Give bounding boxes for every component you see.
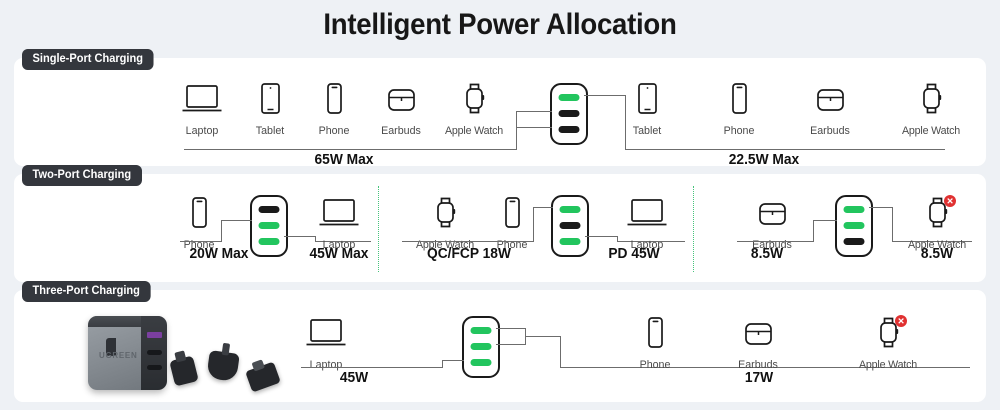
wire-left-v — [516, 111, 517, 150]
watt-label-65w: 65W Max — [287, 152, 401, 168]
device-phone-r3: Phone — [625, 316, 685, 371]
panel-divider-2 — [693, 186, 694, 272]
wire-r3-leftbus — [301, 367, 443, 368]
device-label: Earbuds — [372, 125, 430, 137]
device-label: Phone — [305, 125, 363, 137]
watt-label-22-5w: 22.5W Max — [707, 152, 821, 168]
laptop-icon — [172, 82, 232, 124]
laptop-icon — [309, 196, 369, 238]
charger-body — [550, 83, 588, 145]
wire-p3-left — [813, 220, 837, 221]
watt-label-8-5w-left: 8.5W — [715, 246, 820, 262]
device-apple-watch-r3: ✕ Apple Watch — [852, 316, 924, 371]
watt-label-8-5w-right: 8.5W — [885, 246, 990, 262]
charger-port-2 — [844, 222, 865, 229]
device-tablet: Tablet — [240, 82, 300, 137]
usb-c-port-2 — [147, 365, 162, 370]
phone-icon — [169, 196, 229, 238]
device-apple-watch-2: Apple Watch — [895, 82, 967, 137]
plug-adapter-au — [245, 362, 281, 393]
three-port-stage: UGREEN Laptop — [14, 290, 986, 402]
brand-logo: UGREEN — [99, 351, 137, 360]
phone-icon — [709, 82, 769, 124]
watt-label-qcfcp: QC/FCP 18W — [407, 246, 531, 262]
device-phone-2: Phone — [709, 82, 769, 137]
device-label: Apple Watch — [896, 125, 966, 137]
usb-a-port — [147, 332, 162, 338]
charger-port-face — [141, 316, 167, 390]
wire-r3-right3 — [525, 336, 561, 337]
device-label: Tablet — [618, 125, 676, 137]
charger-product-body: UGREEN — [88, 316, 166, 390]
wire-p1-leftbus — [180, 241, 222, 242]
wire-left-bus — [184, 149, 517, 150]
charger-port-2 — [259, 222, 280, 229]
charger-icon-three-port — [462, 316, 500, 378]
laptop-icon — [617, 196, 677, 238]
device-label: Apple Watch — [853, 359, 923, 371]
two-port-stage: Phone Laptop 20W Max 45W Max — [14, 174, 986, 282]
wire-p3-rightv — [892, 207, 893, 242]
device-label: Phone — [710, 125, 768, 137]
charger-port-3 — [560, 238, 581, 245]
earbuds-icon — [728, 316, 788, 358]
device-apple-watch-p2: Apple Watch — [409, 196, 481, 251]
wire-r3-left — [442, 360, 464, 361]
charger-icon-single-port — [550, 83, 588, 145]
charger-port-2 — [560, 222, 581, 229]
wire-r3-right1 — [496, 328, 526, 329]
charger-port-1 — [560, 206, 581, 213]
wire-p3-right — [869, 207, 893, 208]
watt-label-45w-r3: 45W — [302, 370, 407, 386]
earbuds-icon — [742, 196, 802, 238]
wire-r3-rightv2 — [560, 336, 561, 367]
device-label: Laptop — [173, 125, 231, 137]
device-earbuds-p3: Earbuds — [742, 196, 802, 251]
red-x-badge-icon: ✕ — [944, 195, 956, 207]
phone-icon — [625, 316, 685, 358]
device-laptop-p1: Laptop — [309, 196, 369, 251]
ugreen-charger-photo: UGREEN — [62, 310, 292, 396]
wire-r3-right2 — [496, 344, 526, 345]
usb-c-port-1 — [147, 350, 162, 355]
charger-port-1 — [844, 206, 865, 213]
wire-p3-leftv — [813, 220, 814, 242]
charger-icon-two-port-3 — [835, 195, 873, 257]
phone-icon — [304, 82, 364, 124]
device-tablet-2: Tablet — [617, 82, 677, 137]
tablet-icon — [617, 82, 677, 124]
device-laptop-r3: Laptop — [296, 316, 356, 371]
device-label: Phone — [626, 359, 684, 371]
charger-port-1 — [471, 327, 492, 334]
plug-adapter-eu — [169, 355, 199, 386]
three-port-charging-card: Three-Port Charging UGREEN La — [14, 290, 986, 402]
charger-port-3 — [471, 359, 492, 366]
charger-port-1 — [559, 94, 580, 101]
page-title: Intelligent Power Allocation — [40, 8, 960, 42]
wire-p2-left — [533, 207, 553, 208]
plug-adapter-uk — [206, 350, 240, 382]
device-earbuds-r3: Earbuds — [728, 316, 788, 371]
charger-port-3 — [559, 126, 580, 133]
device-apple-watch-p3: ✕ Apple Watch — [901, 196, 973, 251]
wire-right-bus — [625, 149, 945, 150]
apple-watch-icon — [409, 196, 481, 238]
single-port-charging-card: Single-Port Charging Laptop Tablet Phone — [14, 58, 986, 166]
laptop-icon — [296, 316, 356, 358]
watt-label-20w: 20W Max — [162, 246, 276, 262]
device-label: Apple Watch — [439, 125, 509, 137]
apple-watch-icon — [895, 82, 967, 124]
charger-port-2 — [559, 110, 580, 117]
earbuds-icon — [371, 82, 431, 124]
watt-label-45w: 45W Max — [282, 246, 396, 262]
red-x-badge-icon: ✕ — [895, 315, 907, 327]
wire-p3-leftbus — [737, 241, 814, 242]
charger-port-3 — [844, 238, 865, 245]
device-phone: Phone — [304, 82, 364, 137]
wire-left-1 — [516, 111, 552, 112]
apple-watch-icon — [438, 82, 510, 124]
single-port-stage: Laptop Tablet Phone Earbuds Apple Watch — [14, 58, 986, 166]
wire-p1-left — [221, 220, 252, 221]
wire-left-2 — [516, 127, 552, 128]
device-apple-watch: Apple Watch — [438, 82, 510, 137]
tablet-icon — [240, 82, 300, 124]
charger-port-2 — [471, 343, 492, 350]
device-phone-p1: Phone — [169, 196, 229, 251]
watt-label-17w-r3: 17W — [707, 370, 812, 386]
charger-body — [462, 316, 500, 378]
wire-p2-leftbus — [402, 241, 534, 242]
wire-p1-leftv — [221, 220, 222, 242]
device-laptop-p2: Laptop — [617, 196, 677, 251]
device-laptop: Laptop — [172, 82, 232, 137]
earbuds-icon — [800, 82, 860, 124]
apple-watch-icon — [852, 316, 924, 358]
device-earbuds-2: Earbuds — [800, 82, 860, 137]
wire-p2-right — [585, 236, 618, 237]
device-label: Tablet — [241, 125, 299, 137]
device-label: Earbuds — [801, 125, 859, 137]
apple-watch-icon — [901, 196, 973, 238]
wire-p2-leftv — [533, 207, 534, 242]
watt-label-pd45w: PD 45W — [582, 246, 687, 262]
device-earbuds: Earbuds — [371, 82, 431, 137]
two-port-charging-card: Two-Port Charging Phone La — [14, 174, 986, 282]
charger-port-1 — [259, 206, 280, 213]
charger-body — [835, 195, 873, 257]
charger-port-3 — [259, 238, 280, 245]
